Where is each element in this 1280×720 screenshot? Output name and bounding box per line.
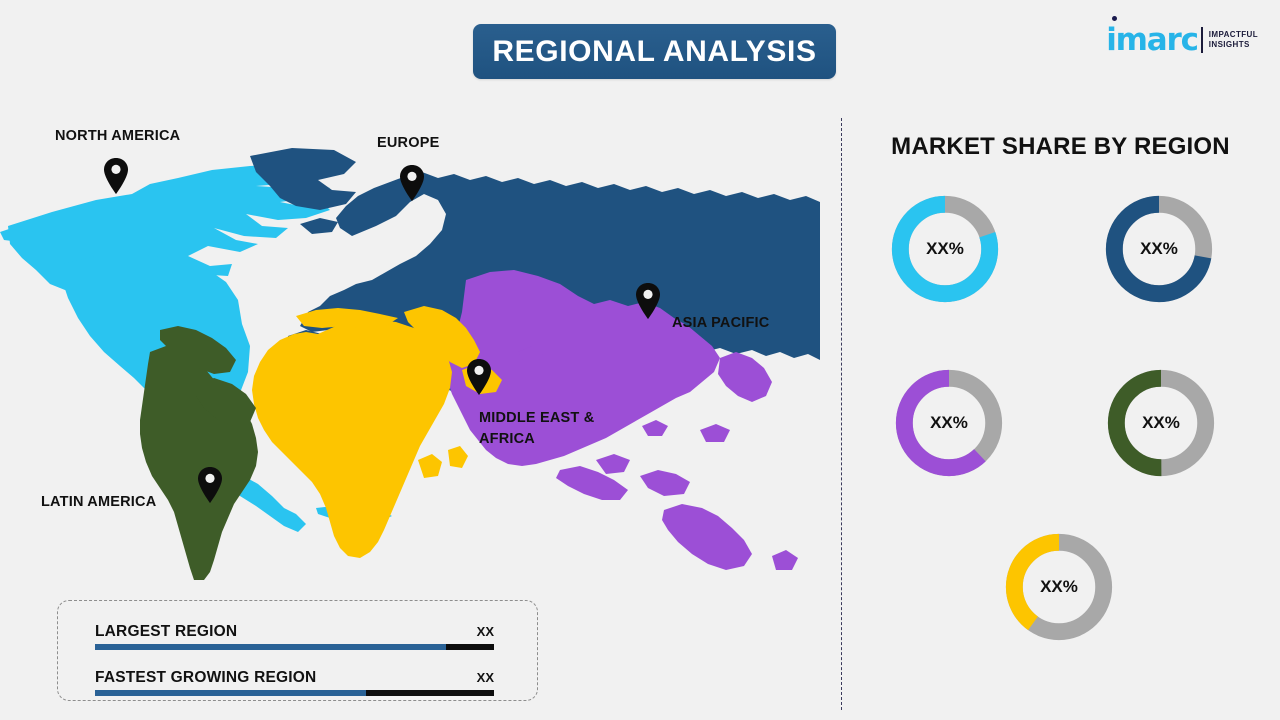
donut-value-latin-america: XX% xyxy=(1102,364,1220,482)
legend-bar-largest-region xyxy=(95,644,494,650)
world-map xyxy=(0,140,820,580)
logo-tagline-line2: INSIGHTS xyxy=(1209,40,1258,50)
logo-tagline: IMPACTFUL INSIGHTS xyxy=(1209,30,1258,50)
legend-row-largest-region: LARGEST REGION XX xyxy=(95,623,494,650)
logo-dot-icon xyxy=(1112,16,1117,21)
map-label-europe: EUROPE xyxy=(377,133,439,154)
map-pin-icon-asia-pacific[interactable] xyxy=(634,282,662,320)
donut-chart-asia-pacific: XX% xyxy=(890,364,1008,482)
legend-value-largest-region: XX xyxy=(477,624,494,639)
donut-value-middle-east-africa: XX% xyxy=(1000,528,1118,646)
panel-divider xyxy=(841,118,842,710)
page-title: REGIONAL ANALYSIS xyxy=(492,35,816,69)
logo-wordmark: imarc xyxy=(1106,25,1198,56)
map-pin-icon-middle-east-africa[interactable] xyxy=(465,358,493,396)
map-pin-icon-europe[interactable] xyxy=(398,164,426,202)
legend-label-fastest-growing-region: FASTEST GROWING REGION xyxy=(95,669,316,687)
map-label-middle-east-africa: MIDDLE EAST & AFRICA xyxy=(479,408,594,449)
donut-chart-europe: XX% xyxy=(1100,190,1218,308)
map-pin-icon-latin-america[interactable] xyxy=(196,466,224,504)
logo-wordmark-text: imarc xyxy=(1106,22,1198,58)
donut-chart-north-america: XX% xyxy=(886,190,1004,308)
donut-value-asia-pacific: XX% xyxy=(890,364,1008,482)
legend-bar-fill-largest-region xyxy=(95,644,446,650)
market-share-panel-title: MARKET SHARE BY REGION xyxy=(841,133,1280,161)
map-label-latin-america: LATIN AMERICA xyxy=(41,492,156,513)
legend-value-fastest-growing-region: XX xyxy=(477,670,494,685)
logo-divider xyxy=(1201,27,1203,53)
donut-chart-middle-east-africa: XX% xyxy=(1000,528,1118,646)
logo-tagline-line1: IMPACTFUL xyxy=(1209,30,1258,40)
map-label-asia-pacific: ASIA PACIFIC xyxy=(672,313,769,334)
legend-bar-fill-fastest-growing-region xyxy=(95,690,366,696)
legend-label-largest-region: LARGEST REGION xyxy=(95,623,237,641)
map-label-north-america: NORTH AMERICA xyxy=(55,126,180,147)
legend-bar-fastest-growing-region xyxy=(95,690,494,696)
legend-row-fastest-growing-region: FASTEST GROWING REGION XX xyxy=(95,669,494,696)
map-pin-icon-north-america[interactable] xyxy=(102,157,130,195)
imarc-logo: imarc IMPACTFUL INSIGHTS xyxy=(1106,22,1258,58)
donut-value-north-america: XX% xyxy=(886,190,1004,308)
regional-analysis-slide: REGIONAL ANALYSIS imarc IMPACTFUL INSIGH… xyxy=(0,0,1280,720)
donut-value-europe: XX% xyxy=(1100,190,1218,308)
page-title-banner: REGIONAL ANALYSIS xyxy=(473,24,836,79)
donut-chart-latin-america: XX% xyxy=(1102,364,1220,482)
region-summary-box: LARGEST REGION XX FASTEST GROWING REGION… xyxy=(57,600,538,701)
